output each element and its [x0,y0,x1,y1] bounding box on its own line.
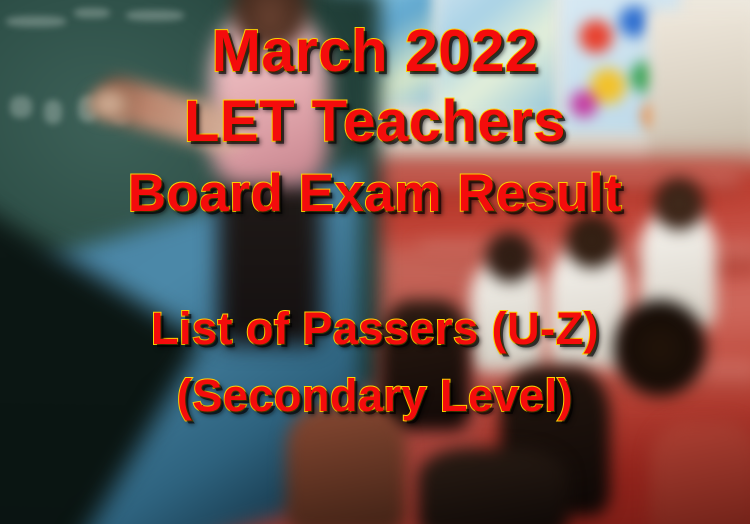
line-exam-date: March 2022 [212,22,538,81]
announcement-text-block: March 2022 LET Teachers Board Exam Resul… [0,0,750,524]
line-exam-subject: Board Exam Result [128,167,622,220]
line-list-range: List of Passers (U-Z) [151,306,599,351]
line-exam-name: LET Teachers [184,93,566,151]
line-level: (Secondary Level) [177,373,573,418]
featured-image-banner: March 2022 LET Teachers Board Exam Resul… [0,0,750,524]
